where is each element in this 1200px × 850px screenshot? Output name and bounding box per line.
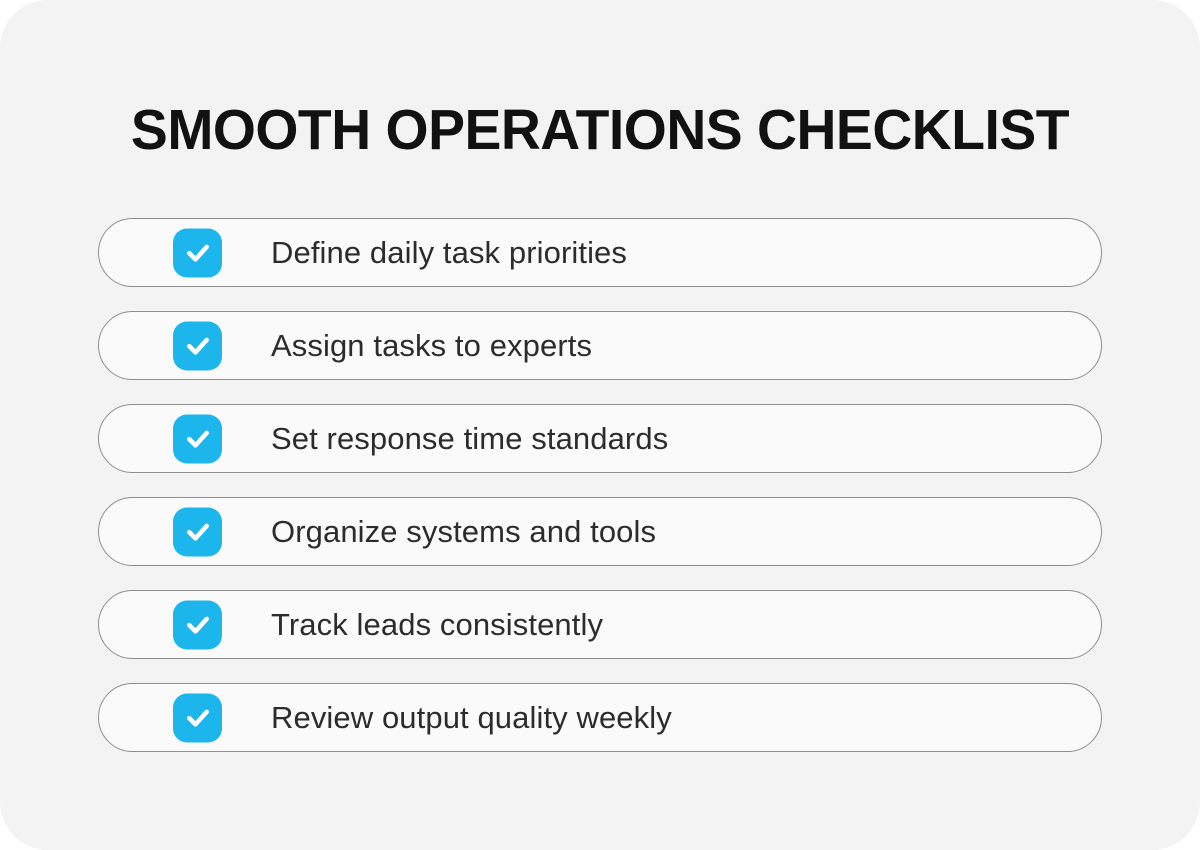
page-title: SMOOTH OPERATIONS CHECKLIST [18,102,1182,159]
checkbox-checked[interactable] [173,693,222,742]
checkbox-checked[interactable] [173,414,222,463]
list-item[interactable]: Track leads consistently [98,590,1102,659]
list-item-label: Set response time standards [271,421,668,457]
list-item-label: Organize systems and tools [271,514,656,550]
list-item[interactable]: Define daily task priorities [98,218,1102,287]
checkbox-checked[interactable] [173,600,222,649]
list-item-label: Assign tasks to experts [271,328,592,364]
check-icon [183,703,213,733]
list-item[interactable]: Assign tasks to experts [98,311,1102,380]
list-item[interactable]: Set response time standards [98,404,1102,473]
list-item-label: Define daily task priorities [271,235,627,271]
checkbox-checked[interactable] [173,507,222,556]
check-icon [183,517,213,547]
checklist-list: Define daily task priorities Assign task… [98,218,1102,752]
list-item[interactable]: Review output quality weekly [98,683,1102,752]
checkbox-checked[interactable] [173,228,222,277]
checklist-card: SMOOTH OPERATIONS CHECKLIST Define daily… [0,0,1200,850]
check-icon [183,238,213,268]
check-icon [183,610,213,640]
list-item-label: Review output quality weekly [271,700,672,736]
list-item[interactable]: Organize systems and tools [98,497,1102,566]
check-icon [183,331,213,361]
list-item-label: Track leads consistently [271,607,603,643]
check-icon [183,424,213,454]
checkbox-checked[interactable] [173,321,222,370]
